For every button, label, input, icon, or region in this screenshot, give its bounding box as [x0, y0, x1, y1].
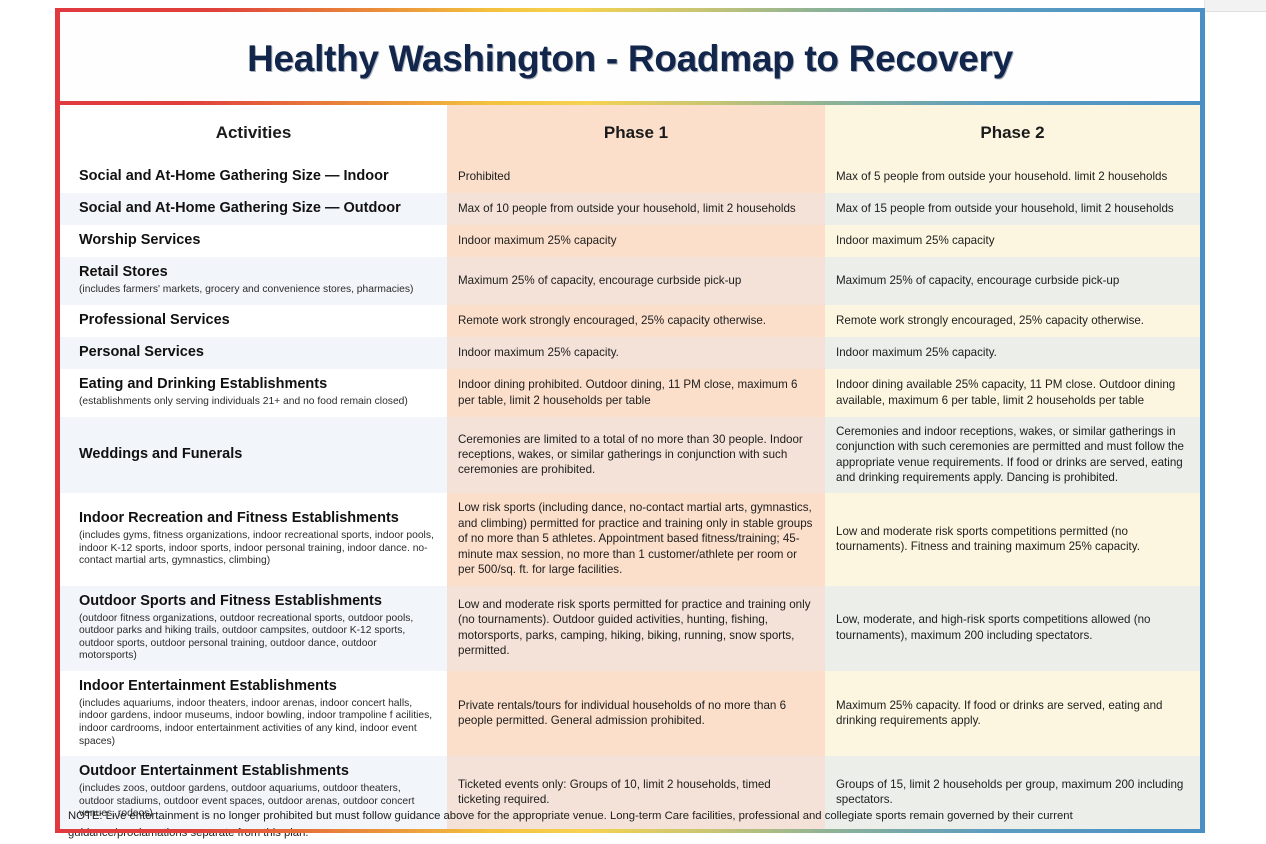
- table-row: Social and At-Home Gathering Size — Indo…: [60, 161, 1200, 193]
- phase1-text: Ceremonies are limited to a total of no …: [458, 432, 814, 478]
- table-row: Personal ServicesIndoor maximum 25% capa…: [60, 337, 1200, 369]
- activity-title: Worship Services: [79, 232, 435, 249]
- phase1-text: Low and moderate risk sports permitted f…: [458, 597, 814, 659]
- phase2-text: Remote work strongly encouraged, 25% cap…: [836, 313, 1189, 328]
- phase2-text: Indoor maximum 25% capacity.: [836, 345, 1189, 360]
- phase1-cell: Private rentals/tours for individual hou…: [447, 671, 825, 756]
- activity-cell: Eating and Drinking Establishments(estab…: [60, 369, 447, 417]
- activity-cell: Indoor Entertainment Establishments(incl…: [60, 671, 447, 756]
- roadmap-poster: Healthy Washington - Roadmap to Recovery…: [55, 8, 1205, 800]
- column-header-phase2: Phase 2: [825, 105, 1200, 161]
- phase1-text: Indoor dining prohibited. Outdoor dining…: [458, 377, 814, 408]
- phase1-cell: Low risk sports (including dance, no-con…: [447, 493, 825, 585]
- phase1-text: Maximum 25% of capacity, encourage curbs…: [458, 273, 814, 288]
- phase1-cell: Indoor dining prohibited. Outdoor dining…: [447, 369, 825, 417]
- phase1-text: Low risk sports (including dance, no-con…: [458, 500, 814, 577]
- phase1-cell: Prohibited: [447, 161, 825, 193]
- phase2-text: Groups of 15, limit 2 households per gro…: [836, 777, 1189, 808]
- table-body: Social and At-Home Gathering Size — Indo…: [60, 161, 1200, 829]
- phase1-text: Max of 10 people from outside your house…: [458, 201, 814, 216]
- roadmap-table: Activities Phase 1 Phase 2 Social and At…: [60, 105, 1200, 829]
- phase2-text: Ceremonies and indoor receptions, wakes,…: [836, 424, 1189, 486]
- phase1-text: Indoor maximum 25% capacity: [458, 233, 814, 248]
- activity-detail: (includes aquariums, indoor theaters, in…: [79, 698, 435, 748]
- phase1-cell: Indoor maximum 25% capacity: [447, 225, 825, 257]
- table-row: Outdoor Sports and Fitness Establishment…: [60, 586, 1200, 671]
- roadmap-table-frame: Activities Phase 1 Phase 2 Social and At…: [55, 105, 1205, 833]
- activity-title: Social and At-Home Gathering Size — Outd…: [79, 200, 435, 217]
- phase1-text: Prohibited: [458, 169, 814, 184]
- phase2-cell: Max of 15 people from outside your house…: [825, 193, 1200, 225]
- table-header: Activities Phase 1 Phase 2: [60, 105, 1200, 161]
- activity-title: Social and At-Home Gathering Size — Indo…: [79, 168, 435, 185]
- phase1-cell: Ceremonies are limited to a total of no …: [447, 417, 825, 494]
- phase1-cell: Maximum 25% of capacity, encourage curbs…: [447, 257, 825, 305]
- activity-detail: (establishments only serving individuals…: [79, 396, 435, 409]
- page-title: Healthy Washington - Roadmap to Recovery: [247, 38, 1013, 80]
- column-header-phase1: Phase 1: [447, 105, 825, 161]
- activity-detail: (includes farmers' markets, grocery and …: [79, 284, 435, 297]
- activity-title: Weddings and Funerals: [79, 446, 435, 463]
- activity-detail: (includes gyms, fitness organizations, i…: [79, 530, 435, 568]
- activity-cell: Social and At-Home Gathering Size — Outd…: [60, 193, 447, 225]
- activity-cell: Worship Services: [60, 225, 447, 257]
- activity-detail: (outdoor fitness organizations, outdoor …: [79, 613, 435, 663]
- activity-cell: Personal Services: [60, 337, 447, 369]
- phase2-text: Low, moderate, and high-risk sports comp…: [836, 612, 1189, 643]
- table-row: Worship ServicesIndoor maximum 25% capac…: [60, 225, 1200, 257]
- phase2-cell: Ceremonies and indoor receptions, wakes,…: [825, 417, 1200, 494]
- phase2-cell: Low, moderate, and high-risk sports comp…: [825, 586, 1200, 671]
- phase2-text: Indoor dining available 25% capacity, 11…: [836, 377, 1189, 408]
- phase2-cell: Low and moderate risk sports competition…: [825, 493, 1200, 585]
- table-row: Weddings and FuneralsCeremonies are limi…: [60, 417, 1200, 494]
- phase1-text: Private rentals/tours for individual hou…: [458, 698, 814, 729]
- activity-cell: Weddings and Funerals: [60, 417, 447, 494]
- activity-title: Eating and Drinking Establishments(estab…: [79, 376, 435, 409]
- phase2-text: Max of 15 people from outside your house…: [836, 201, 1189, 216]
- table-row: Professional ServicesRemote work strongl…: [60, 305, 1200, 337]
- phase2-text: Maximum 25% capacity. If food or drinks …: [836, 698, 1189, 729]
- window-corner-chip: [1204, 0, 1266, 12]
- table-row: Eating and Drinking Establishments(estab…: [60, 369, 1200, 417]
- phase2-cell: Indoor dining available 25% capacity, 11…: [825, 369, 1200, 417]
- phase2-cell: Indoor maximum 25% capacity: [825, 225, 1200, 257]
- activity-title: Indoor Entertainment Establishments(incl…: [79, 678, 435, 748]
- activity-title: Professional Services: [79, 312, 435, 329]
- activity-title: Retail Stores(includes farmers' markets,…: [79, 264, 435, 297]
- column-header-activities: Activities: [60, 105, 447, 161]
- page-root: Healthy Washington - Roadmap to Recovery…: [0, 0, 1266, 844]
- phase1-text: Indoor maximum 25% capacity.: [458, 345, 814, 360]
- phase1-cell: Indoor maximum 25% capacity.: [447, 337, 825, 369]
- phase2-cell: Max of 5 people from outside your househ…: [825, 161, 1200, 193]
- phase1-cell: Low and moderate risk sports permitted f…: [447, 586, 825, 671]
- phase2-cell: Maximum 25% of capacity, encourage curbs…: [825, 257, 1200, 305]
- activity-cell: Professional Services: [60, 305, 447, 337]
- activity-cell: Retail Stores(includes farmers' markets,…: [60, 257, 447, 305]
- activity-title: Indoor Recreation and Fitness Establishm…: [79, 510, 435, 568]
- phase1-cell: Remote work strongly encouraged, 25% cap…: [447, 305, 825, 337]
- phase2-text: Low and moderate risk sports competition…: [836, 524, 1189, 555]
- phase2-cell: Indoor maximum 25% capacity.: [825, 337, 1200, 369]
- table-row: Indoor Recreation and Fitness Establishm…: [60, 493, 1200, 585]
- phase1-text: Ticketed events only: Groups of 10, limi…: [458, 777, 814, 808]
- activity-title: Personal Services: [79, 344, 435, 361]
- activity-cell: Outdoor Sports and Fitness Establishment…: [60, 586, 447, 671]
- phase1-text: Remote work strongly encouraged, 25% cap…: [458, 313, 814, 328]
- poster-title-band: Healthy Washington - Roadmap to Recovery: [55, 8, 1205, 105]
- phase2-text: Max of 5 people from outside your househ…: [836, 169, 1189, 184]
- phase2-cell: Remote work strongly encouraged, 25% cap…: [825, 305, 1200, 337]
- activity-cell: Social and At-Home Gathering Size — Indo…: [60, 161, 447, 193]
- table-row: Social and At-Home Gathering Size — Outd…: [60, 193, 1200, 225]
- phase2-cell: Maximum 25% capacity. If food or drinks …: [825, 671, 1200, 756]
- phase2-text: Maximum 25% of capacity, encourage curbs…: [836, 273, 1189, 288]
- table-row: Retail Stores(includes farmers' markets,…: [60, 257, 1200, 305]
- table-row: Indoor Entertainment Establishments(incl…: [60, 671, 1200, 756]
- activity-title: Outdoor Sports and Fitness Establishment…: [79, 593, 435, 663]
- activity-cell: Indoor Recreation and Fitness Establishm…: [60, 493, 447, 585]
- phase1-cell: Max of 10 people from outside your house…: [447, 193, 825, 225]
- footer-note: NOTE: Live entertainment is no longer pr…: [68, 808, 1188, 842]
- phase2-text: Indoor maximum 25% capacity: [836, 233, 1189, 248]
